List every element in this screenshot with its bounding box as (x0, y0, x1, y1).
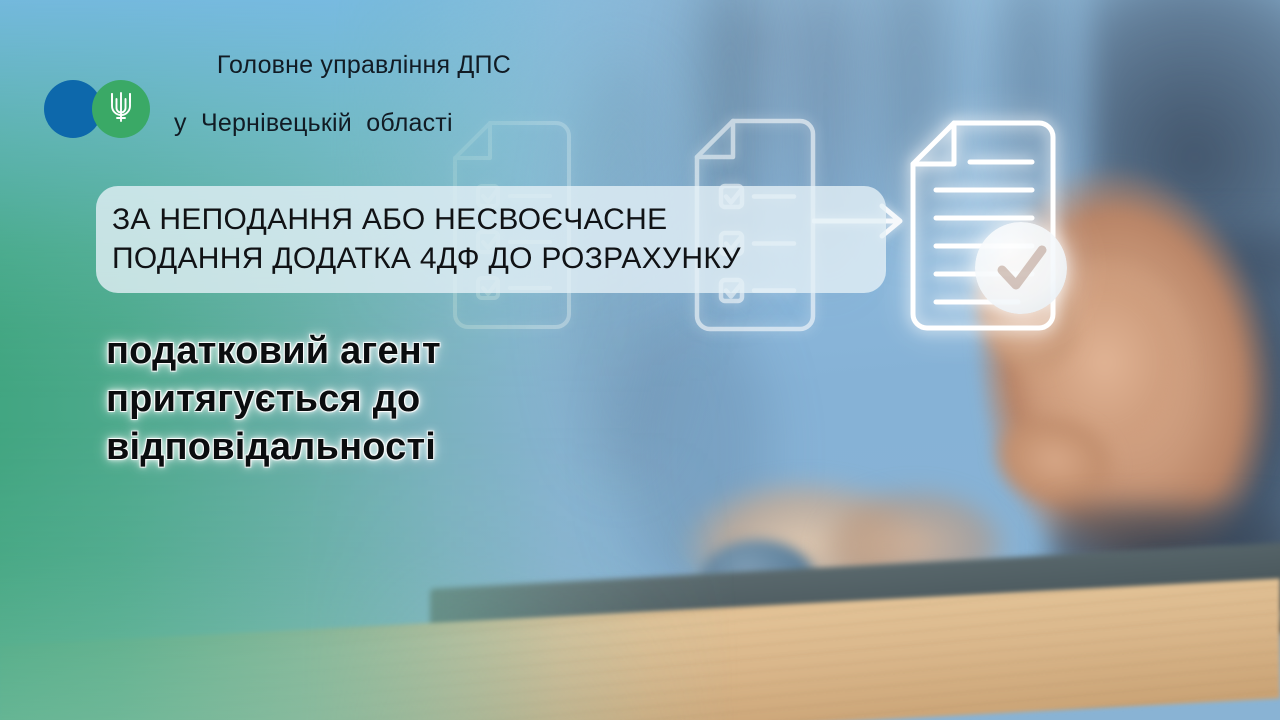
headline-banner: ЗА НЕПОДАННЯ АБО НЕСВОЄЧАСНЕ ПОДАННЯ ДОД… (96, 186, 886, 293)
headline-text: ЗА НЕПОДАННЯ АБО НЕСВОЄЧАСНЕ ПОДАННЯ ДОД… (112, 200, 868, 278)
organization-title-line2: у Чернівецькій області (174, 109, 511, 138)
infographic-poster: Головне управління ДПС у Чернівецькій об… (0, 0, 1280, 720)
subtitle-text: податковий агент притягується до відпові… (106, 327, 441, 471)
organization-title-line1: Головне управління ДПС (217, 51, 511, 79)
organization-header: Головне управління ДПС у Чернівецькій об… (44, 22, 511, 196)
ukraine-trident-icon (108, 91, 134, 128)
logo-green-circle-icon (92, 80, 150, 138)
organization-title: Головне управління ДПС у Чернівецькій об… (174, 22, 511, 196)
logo (44, 80, 164, 138)
